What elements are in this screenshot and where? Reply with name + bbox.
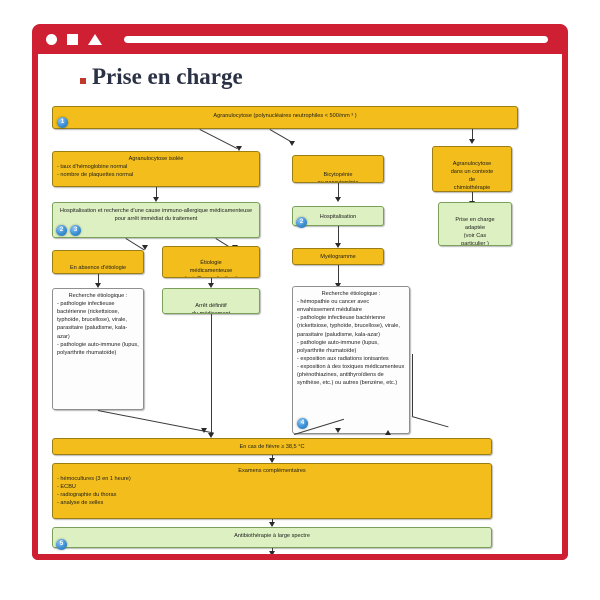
- node-label: Bicytopénie ou pancytopénie: [317, 172, 358, 183]
- node-label: Hospitalisation: [320, 214, 356, 220]
- node-label: - taux d'hémoglobine normal - nombre de …: [57, 164, 133, 178]
- node-label: Prise en charge adaptée (voir Cas partic…: [455, 217, 494, 246]
- arrow-head: [335, 428, 341, 433]
- badge-2b: 2: [296, 217, 307, 228]
- connector: [98, 410, 214, 433]
- node-examens-complementaires: Examens complémentaires - hémocultures (…: [52, 463, 492, 519]
- node-myelogramme: Myélogramme: [292, 248, 384, 265]
- badge-3: 3: [70, 225, 81, 236]
- browser-window: Prise en charge Agranulocytose (polynucl…: [32, 54, 568, 560]
- arrow-head: [469, 139, 475, 144]
- arrow-head: [269, 551, 275, 554]
- node-hospitalisation-immuno: Hospitalisation et recherche d'une cause…: [52, 202, 260, 238]
- arrow-head: [142, 245, 148, 250]
- node-label: Antibiothérapie à large spectre: [234, 533, 310, 539]
- node-contexte-chimiotherapie: Agranulocytose dans un contexte de chimi…: [432, 146, 512, 192]
- node-label: - hémocultures (3 en 1 heure) - ECBU - r…: [57, 476, 131, 506]
- node-recherche-etiologique-droite: Recherche étiologique : - hémopathie ou …: [292, 286, 410, 434]
- node-fievre: En cas de fièvre ≥ 38,5 °C: [52, 438, 492, 455]
- circle-icon[interactable]: [46, 34, 57, 45]
- node-label: - hémopathie ou cancer avec envahissemen…: [297, 299, 404, 386]
- badge-1: 1: [57, 117, 68, 128]
- node-label: Étiologie médicamenteuse (voir Cas parti…: [185, 260, 238, 278]
- node-label: En absence d'étiologie médicamenteuse: [70, 265, 126, 274]
- flowchart: Agranulocytose (polynucléaires neutrophi…: [38, 98, 562, 554]
- square-icon[interactable]: [67, 34, 78, 45]
- node-absence-etiologie: En absence d'étiologie médicamenteuse: [52, 250, 144, 274]
- connector: [412, 416, 449, 427]
- node-label: Agranulocytose dans un contexte de chimi…: [451, 161, 494, 191]
- badge-5: 5: [56, 539, 67, 550]
- node-heading: Recherche étiologique :: [297, 290, 405, 298]
- address-bar[interactable]: [124, 36, 548, 43]
- badge-4: 4: [297, 418, 308, 429]
- connector: [412, 354, 413, 416]
- node-bicytopenie: Bicytopénie ou pancytopénie: [292, 155, 384, 183]
- node-prise-en-charge-adaptee: Prise en charge adaptée (voir Cas partic…: [438, 202, 512, 246]
- node-agranulocytose: Agranulocytose (polynucléaires neutrophi…: [52, 106, 518, 129]
- node-label: - pathologie infectieuse bactérienne (ri…: [57, 301, 139, 356]
- node-recherche-etiologique-gauche: Recherche étiologique : - pathologie inf…: [52, 288, 144, 410]
- connector: [200, 129, 238, 149]
- page-title: Prise en charge: [92, 64, 243, 90]
- browser-chrome: [32, 24, 568, 54]
- node-agranulocytose-isolee: Agranulocytose isolée - taux d'hémoglobi…: [52, 151, 260, 187]
- node-label: Agranulocytose (polynucléaires neutrophi…: [213, 113, 356, 119]
- node-antibiotherapie: Antibiothérapie à large spectre: [52, 527, 492, 548]
- screenshot-root: Prise en charge Agranulocytose (polynucl…: [0, 0, 600, 600]
- node-heading: Recherche étiologique :: [57, 292, 139, 300]
- node-label: En cas de fièvre ≥ 38,5 °C: [239, 444, 304, 450]
- arrow-head: [385, 430, 391, 435]
- node-heading: Examens complémentaires: [57, 467, 487, 475]
- connector: [211, 314, 212, 436]
- arrow-head: [289, 141, 295, 146]
- page-content: Prise en charge Agranulocytose (polynucl…: [38, 54, 562, 554]
- triangle-icon[interactable]: [88, 34, 102, 45]
- badge-2: 2: [56, 225, 67, 236]
- node-label: Hospitalisation et recherche d'une cause…: [60, 208, 252, 222]
- node-etiologie-medicamenteuse: Étiologie médicamenteuse (voir Cas parti…: [162, 246, 260, 278]
- node-arret-definitif: Arrêt définitif du médicament: [162, 288, 260, 314]
- node-label: Arrêt définitif du médicament: [192, 303, 230, 314]
- node-heading: Agranulocytose isolée: [57, 155, 255, 163]
- node-label: Myélogramme: [320, 254, 355, 260]
- arrow-head: [335, 197, 341, 202]
- arrow-head: [201, 428, 207, 433]
- square-bullet-icon: [80, 78, 86, 84]
